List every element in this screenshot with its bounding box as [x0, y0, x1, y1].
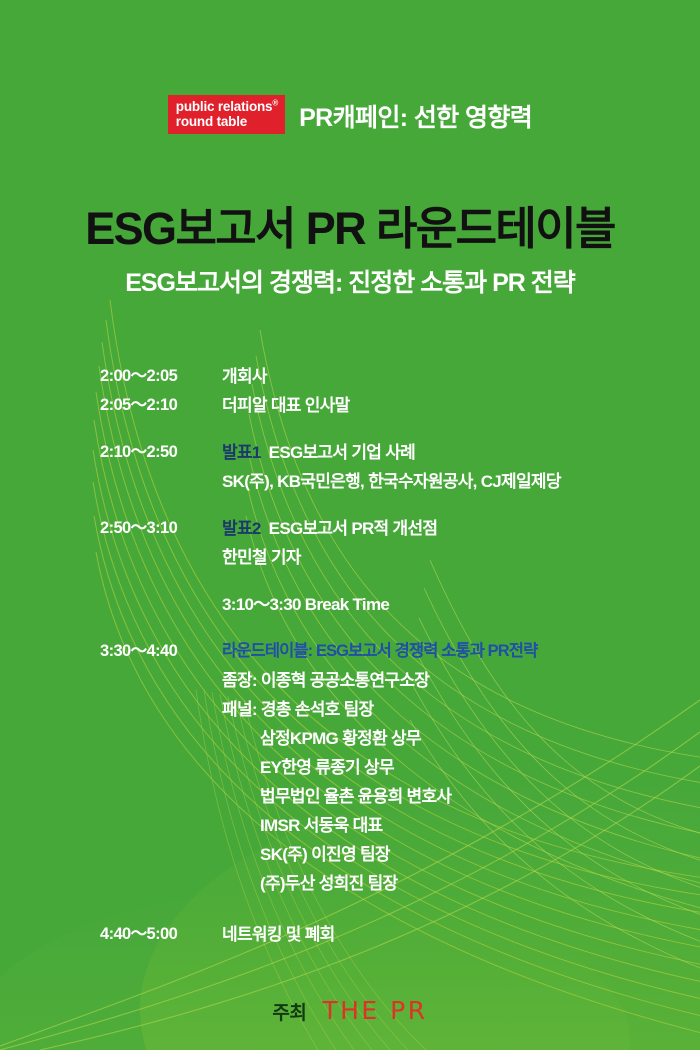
schedule-detail-line: 3:10～3:30 Break Time — [222, 590, 660, 619]
schedule-row-body: 더피알 대표 인사말 — [222, 391, 660, 420]
prt-logo-badge: public relations® round table — [168, 95, 285, 134]
schedule-detail-line: 패널: 경총 손석호 팀장 — [222, 695, 660, 724]
schedule-detail-line: SK(주), KB국민은행, 한국수자원공사, CJ제일제당 — [222, 467, 660, 496]
page-subtitle: ESG보고서의 경쟁력: 진정한 소통과 PR 전략 — [0, 263, 700, 299]
schedule-row: 3:30～4:40라운드테이블: ESG보고서 경쟁력 소통과 PR전략좀장: … — [100, 637, 660, 898]
schedule-row-body: 3:10～3:30 Break Time — [222, 590, 660, 619]
schedule-detail-line: 좀장: 이종혁 공공소통연구소장 — [222, 666, 660, 695]
schedule-row-time: 2:05～2:10 — [100, 391, 222, 420]
prt-logo-line1: public relations® — [176, 99, 278, 114]
roundtable-title: 라운드테이블: ESG보고서 경쟁력 소통과 PR전략 — [222, 637, 660, 666]
schedule-panelist-line: 삼정KPMG 황정환 상무 — [222, 724, 660, 753]
schedule-row-spacer — [100, 572, 660, 590]
schedule-panelist-line: SK(주) 이진영 팀장 — [222, 840, 660, 869]
schedule-row: 2:10～2:50발표1 ESG보고서 기업 사례SK(주), KB국민은행, … — [100, 438, 660, 496]
schedule-detail-line: 한민철 기자 — [222, 543, 660, 572]
schedule-row-time: 2:10～2:50 — [100, 438, 222, 467]
schedule-panelist-line: (주)두산 성희진 팀장 — [222, 869, 660, 898]
schedule-row: 2:00～2:05개회사 — [100, 362, 660, 391]
schedule-row: 3:10～3:30 Break Time — [100, 590, 660, 619]
schedule-panelist-line: EY한영 류종기 상무 — [222, 753, 660, 782]
schedule-row: 2:50～3:10발표2 ESG보고서 PR적 개선점한민철 기자 — [100, 514, 660, 572]
schedule-list: 2:00～2:05개회사2:05～2:10더피알 대표 인사말2:10～2:50… — [100, 362, 660, 949]
poster-canvas: public relations® round table PR캐페인: 선한 … — [0, 0, 700, 1050]
schedule-row-body: 발표1 ESG보고서 기업 사례SK(주), KB국민은행, 한국수자원공사, … — [222, 438, 660, 496]
host-label: 주최 — [272, 998, 306, 1025]
schedule-detail-line: 네트워킹 및 폐회 — [222, 920, 660, 949]
schedule-row-body: 네트워킹 및 폐회 — [222, 920, 660, 949]
prt-logo-text-public-relations: public relations — [176, 99, 273, 114]
schedule-row-time: 3:30～4:40 — [100, 637, 222, 666]
schedule-session-heading: 발표1 ESG보고서 기업 사례 — [222, 438, 660, 467]
session-tag: 발표2 — [222, 519, 261, 538]
schedule-row-spacer — [100, 619, 660, 637]
schedule-row-body: 발표2 ESG보고서 PR적 개선점한민철 기자 — [222, 514, 660, 572]
schedule-row-time: 2:50～3:10 — [100, 514, 222, 543]
schedule-row-body: 라운드테이블: ESG보고서 경쟁력 소통과 PR전략좀장: 이종혁 공공소통연… — [222, 637, 660, 898]
schedule-detail-line: 개회사 — [222, 362, 660, 391]
registered-trademark-icon: ® — [272, 99, 278, 108]
session-tag: 발표1 — [222, 443, 261, 462]
schedule-row: 2:05～2:10더피알 대표 인사말 — [100, 391, 660, 420]
schedule-row-spacer — [100, 898, 660, 920]
schedule-row-time: 4:40～5:00 — [100, 920, 222, 949]
schedule-panelist-line: 법무법인 율촌 윤용희 변호사 — [222, 782, 660, 811]
poster-footer: 주최 THE PR — [0, 996, 700, 1025]
schedule-session-heading: 발표2 ESG보고서 PR적 개선점 — [222, 514, 660, 543]
schedule-panelist-line: IMSR 서동욱 대표 — [222, 811, 660, 840]
schedule-row-body: 개회사 — [222, 362, 660, 391]
schedule-row: 4:40～5:00네트워킹 및 폐회 — [100, 920, 660, 949]
schedule-detail-line: 더피알 대표 인사말 — [222, 391, 660, 420]
schedule-row-spacer — [100, 496, 660, 514]
poster-header: public relations® round table PR캐페인: 선한 … — [0, 96, 700, 135]
schedule-row-spacer — [100, 420, 660, 438]
prt-logo-line2: round table — [176, 114, 278, 129]
schedule-row-time: 2:00～2:05 — [100, 362, 222, 391]
page-title: ESG보고서 PR 라운드테이블 — [0, 192, 700, 257]
brand-logo-thepr: THE PR — [322, 996, 427, 1025]
campaign-label: PR캐페인: 선한 영향력 — [299, 98, 532, 134]
